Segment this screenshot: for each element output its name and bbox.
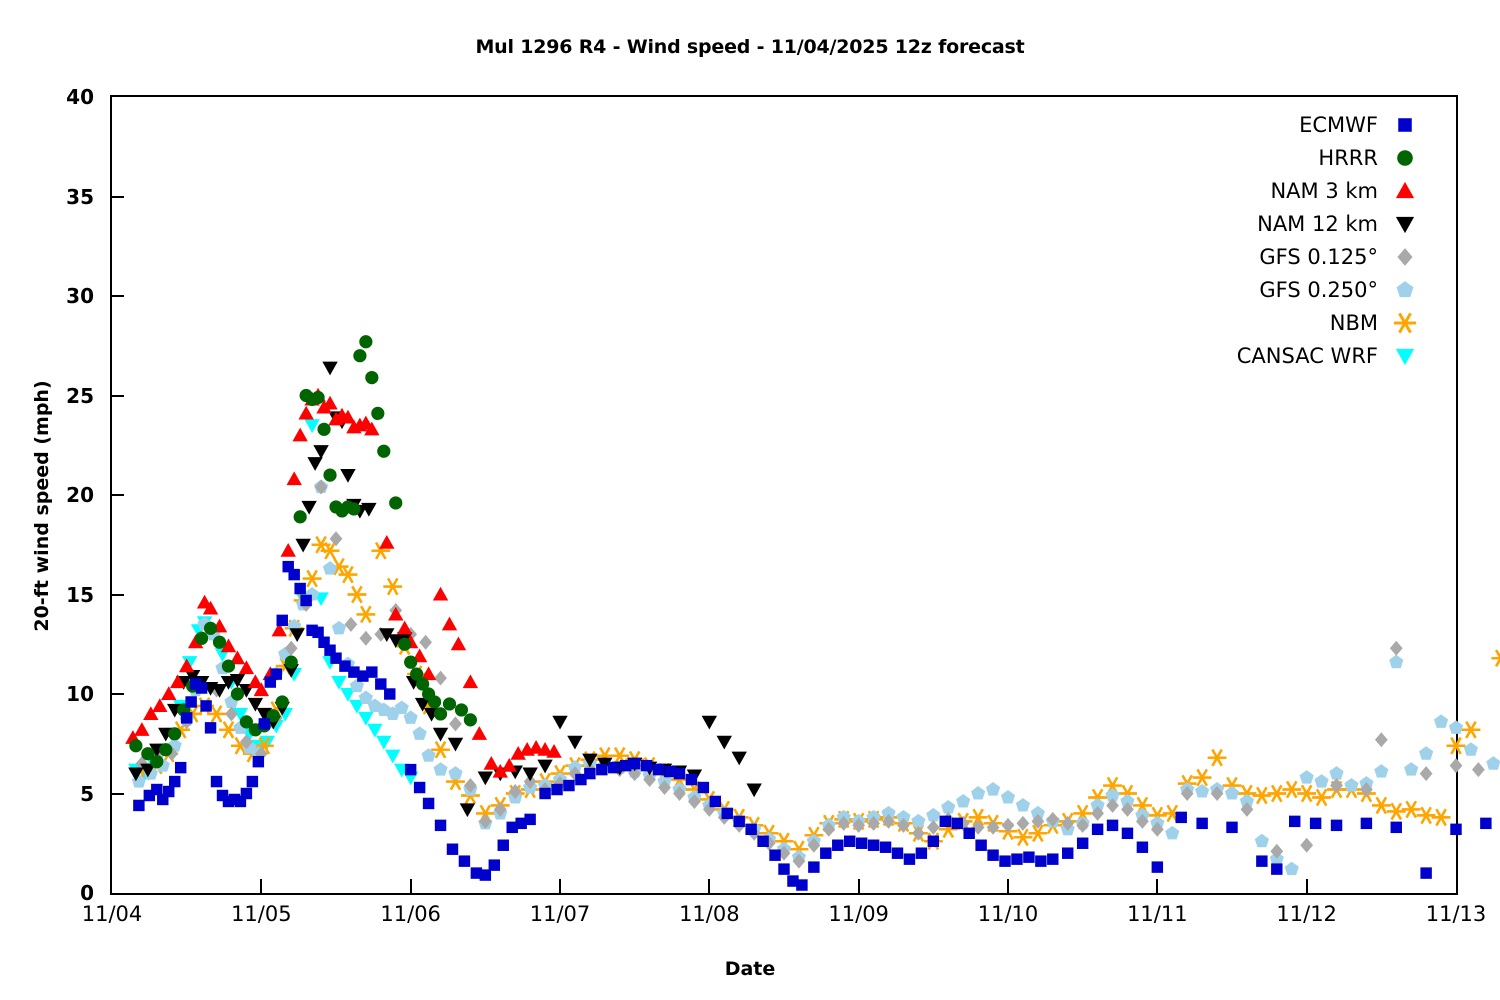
x-tick-label: 11/05 (191, 902, 331, 926)
chart-page: Mul 1296 R4 - Wind speed - 11/04/2025 12… (0, 0, 1500, 1000)
x-axis-title: Date (0, 958, 1500, 980)
x-tick-mark (260, 879, 262, 893)
legend-marker-triangle-up-icon (1390, 176, 1420, 206)
series-gfs-0-125 (135, 480, 1484, 869)
legend-item-cansac-wrf[interactable]: CANSAC WRF (1170, 339, 1420, 372)
x-tick-label: 11/07 (490, 902, 630, 926)
x-tick-label: 11/06 (341, 902, 481, 926)
x-tick-label: 11/04 (42, 902, 182, 926)
y-tick-label: 10 (34, 682, 94, 706)
y-tick-mark (110, 594, 124, 596)
legend-marker-circle-icon (1390, 143, 1420, 173)
x-tick-label: 11/10 (938, 902, 1078, 926)
x-tick-mark (708, 879, 710, 893)
legend-marker-triangle-down-icon (1390, 209, 1420, 239)
legend-marker-asterisk-icon (1390, 308, 1420, 338)
x-tick-mark (559, 879, 561, 893)
y-axis-title: 20-ft wind speed (mph) (31, 346, 53, 666)
x-tick-label: 11/12 (1237, 902, 1377, 926)
x-tick-label: 11/08 (639, 902, 779, 926)
legend-item-nam-12-km[interactable]: NAM 12 km (1170, 207, 1420, 240)
legend-item-ecmwf[interactable]: ECMWF (1170, 108, 1420, 141)
y-tick-label: 5 (34, 782, 94, 806)
page-title: Mul 1296 R4 - Wind speed - 11/04/2025 12… (0, 36, 1500, 58)
y-tick-mark (110, 196, 124, 198)
y-tick-mark (110, 693, 124, 695)
y-tick-mark (110, 793, 124, 795)
legend-marker-square-icon (1390, 110, 1420, 140)
legend-marker-triangle-down-icon (1390, 341, 1420, 371)
legend-item-nbm[interactable]: NBM (1170, 306, 1420, 339)
legend-item-hrrr[interactable]: HRRR (1170, 141, 1420, 174)
legend-label: NAM 12 km (1257, 212, 1378, 236)
legend-label: GFS 0.125° (1259, 245, 1378, 269)
legend-label: NBM (1330, 311, 1378, 335)
legend-label: CANSAC WRF (1237, 344, 1378, 368)
x-tick-label: 11/13 (1386, 902, 1500, 926)
x-tick-label: 11/09 (789, 902, 929, 926)
x-tick-mark (1007, 879, 1009, 893)
y-tick-label: 30 (34, 284, 94, 308)
x-tick-label: 11/11 (1087, 902, 1227, 926)
x-tick-mark (858, 879, 860, 893)
legend-label: GFS 0.250° (1259, 278, 1378, 302)
y-tick-label: 40 (34, 85, 94, 109)
series-nbm (136, 537, 1500, 858)
legend-item-nam-3-km[interactable]: NAM 3 km (1170, 174, 1420, 207)
y-tick-label: 35 (34, 185, 94, 209)
x-tick-mark (410, 879, 412, 893)
y-tick-mark (110, 395, 124, 397)
legend-label: ECMWF (1299, 113, 1378, 137)
y-tick-mark (110, 494, 124, 496)
legend-marker-pentagon-icon (1390, 275, 1420, 305)
legend: ECMWFHRRRNAM 3 kmNAM 12 kmGFS 0.125°GFS … (1170, 108, 1420, 372)
x-tick-mark (1156, 879, 1158, 893)
legend-marker-diamond-icon (1390, 242, 1420, 272)
legend-label: HRRR (1318, 146, 1378, 170)
legend-item-gfs-0-250[interactable]: GFS 0.250° (1170, 273, 1420, 306)
legend-label: NAM 3 km (1270, 179, 1378, 203)
legend-item-gfs-0-125[interactable]: GFS 0.125° (1170, 240, 1420, 273)
y-tick-mark (110, 295, 124, 297)
x-tick-mark (1306, 879, 1308, 893)
